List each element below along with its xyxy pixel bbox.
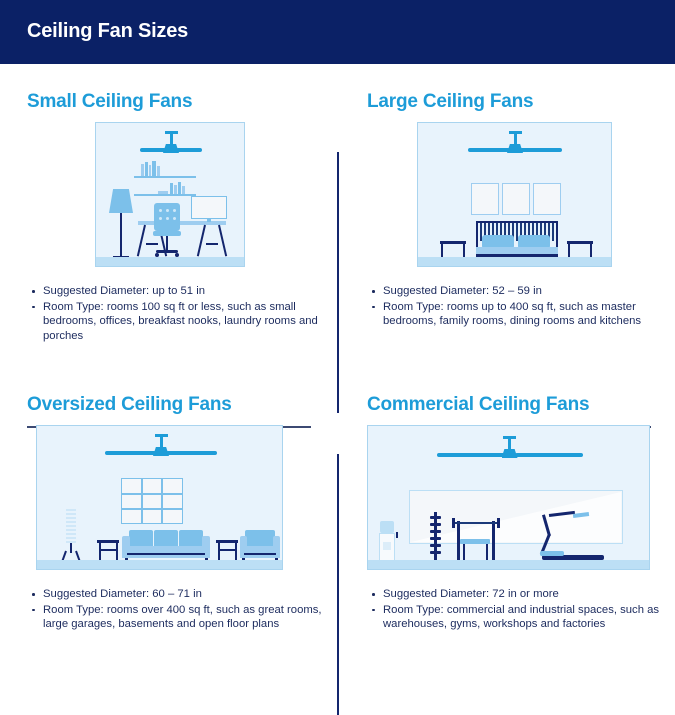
books-lower: [170, 183, 173, 194]
ceiling-fan-icon: [465, 131, 565, 156]
books-upper: [141, 164, 144, 176]
section-commercial: Commercial Ceiling Fans: [367, 377, 675, 677]
illustration-commercial: [367, 425, 675, 575]
shelf-lower: [134, 194, 196, 196]
list-item: Suggested Diameter: 52 – 59 in: [369, 284, 669, 299]
list-item: Suggested Diameter: 72 in or more: [369, 587, 669, 602]
books-lower: [174, 185, 177, 194]
dumbbell: [430, 523, 441, 526]
floor-lamp-shade: [66, 513, 76, 515]
side-table-brace: [99, 549, 118, 551]
desk-top: [138, 221, 226, 225]
bed-headboard-slat: [552, 223, 554, 241]
section-title-small: Small Ceiling Fans: [27, 91, 192, 113]
bullets-commercial: Suggested Diameter: 72 in or more Room T…: [369, 587, 669, 633]
floor-strip: [96, 257, 244, 266]
window-mullion-v: [141, 478, 143, 524]
floor-lamp-shade: [66, 521, 76, 523]
window-mullion-v: [161, 478, 163, 524]
office-chair-column: [166, 236, 168, 250]
floor-lamp-shade: [66, 517, 76, 519]
ceiling-fan-icon: [432, 436, 587, 461]
list-item: Room Type: rooms 100 sq ft or less, such…: [29, 300, 329, 344]
office-chair-dot: [173, 209, 176, 212]
floor-lamp-pole: [70, 543, 72, 553]
sofa-base-line: [127, 553, 205, 555]
barbell-plate: [452, 518, 455, 528]
floor-strip: [418, 257, 611, 266]
ceiling-fan-icon: [102, 434, 220, 459]
monitor-screen: [191, 196, 227, 219]
list-item: Suggested Diameter: 60 – 71 in: [29, 587, 329, 602]
barbell-bar: [453, 522, 499, 524]
list-item: Suggested Diameter: up to 51 in: [29, 284, 329, 299]
section-title-commercial: Commercial Ceiling Fans: [367, 394, 589, 416]
office-chair-dot: [166, 217, 169, 220]
page-header: Ceiling Fan Sizes: [0, 0, 675, 64]
office-chair-dot: [166, 209, 169, 212]
books-upper: [145, 162, 148, 176]
window-mullion-h: [121, 508, 183, 510]
dumbbell: [430, 516, 441, 519]
wall-picture: [502, 183, 530, 215]
bullets-large: Suggested Diameter: 52 – 59 in Room Type…: [369, 284, 669, 330]
desk-leg-left: [137, 225, 146, 257]
bedroom-scene: [417, 122, 612, 267]
books-lower: [158, 191, 168, 194]
gym-scene: [367, 425, 650, 570]
list-item: Room Type: rooms up to 400 sq ft, such a…: [369, 300, 669, 329]
page-title: Ceiling Fan Sizes: [27, 20, 188, 43]
floor-lamp-shade: [66, 533, 76, 535]
section-small: Small Ceiling Fans: [27, 74, 337, 374]
armchair-seat: [240, 546, 280, 558]
office-chair-dot: [159, 217, 162, 220]
armchair-base-line: [244, 553, 276, 555]
dumbbell: [430, 544, 441, 547]
divider-vertical-bottom: [337, 454, 339, 715]
section-oversized: Oversized Ceiling Fans: [27, 377, 337, 677]
home-office-scene: [95, 122, 245, 267]
section-large: Large Ceiling Fans: [367, 74, 675, 374]
dumbbell: [430, 530, 441, 533]
wall-picture: [533, 183, 561, 215]
section-title-oversized: Oversized Ceiling Fans: [27, 394, 232, 416]
floor-lamp-shade: [66, 537, 76, 539]
floor-strip: [37, 560, 282, 569]
bench-press-upright: [492, 521, 495, 563]
window-frame: [121, 478, 183, 524]
water-cooler-spout: [396, 532, 398, 538]
monitor-stand: [207, 219, 211, 222]
infographic-page: Ceiling Fan Sizes Small Ceiling Fans: [0, 0, 675, 675]
illustration-oversized: [27, 425, 337, 575]
section-title-large: Large Ceiling Fans: [367, 91, 533, 113]
divider-vertical-top: [337, 152, 339, 413]
bullets-oversized: Suggested Diameter: 60 – 71 in Room Type…: [29, 587, 329, 633]
window-mullion-h: [121, 493, 183, 495]
sections-grid: Small Ceiling Fans: [0, 64, 675, 675]
floor-lamp-shade: [66, 529, 76, 531]
shelf-upper: [134, 176, 196, 178]
barbell-plate: [497, 518, 500, 528]
illustration-small: [27, 122, 337, 272]
office-chair-dot: [173, 217, 176, 220]
floor-strip: [368, 560, 649, 569]
list-item: Room Type: rooms over 400 sq ft, such as…: [29, 603, 329, 632]
floor-lamp-shade: [66, 525, 76, 527]
side-table-brace: [218, 549, 237, 551]
office-chair-dot: [159, 209, 162, 212]
desk-leg-right-brace: [206, 243, 218, 245]
desk-leg-left-brace: [146, 243, 158, 245]
ceiling-fan-icon: [136, 131, 206, 156]
books-lower: [182, 186, 185, 194]
water-cooler-panel: [383, 542, 391, 550]
books-upper: [149, 165, 151, 176]
books-upper: [157, 166, 160, 176]
bullets-small: Suggested Diameter: up to 51 in Room Typ…: [29, 284, 329, 344]
dumbbell: [430, 537, 441, 540]
books-lower: [178, 182, 181, 194]
floor-lamp-pole: [120, 213, 122, 257]
illustration-large: [367, 122, 675, 272]
floor-lamp-shade: [66, 509, 76, 511]
treadmill-belt: [540, 551, 564, 556]
dumbbell: [430, 551, 441, 554]
sofa-seat: [122, 546, 210, 558]
wall-picture: [471, 183, 499, 215]
living-room-scene: [36, 425, 283, 570]
desk-leg-right: [218, 225, 227, 257]
floor-lamp-shade: [109, 189, 133, 213]
desk-leg-right: [197, 225, 206, 257]
list-item: Room Type: commercial and industrial spa…: [369, 603, 669, 632]
books-upper: [152, 161, 156, 176]
water-cooler-tank: [380, 521, 394, 533]
